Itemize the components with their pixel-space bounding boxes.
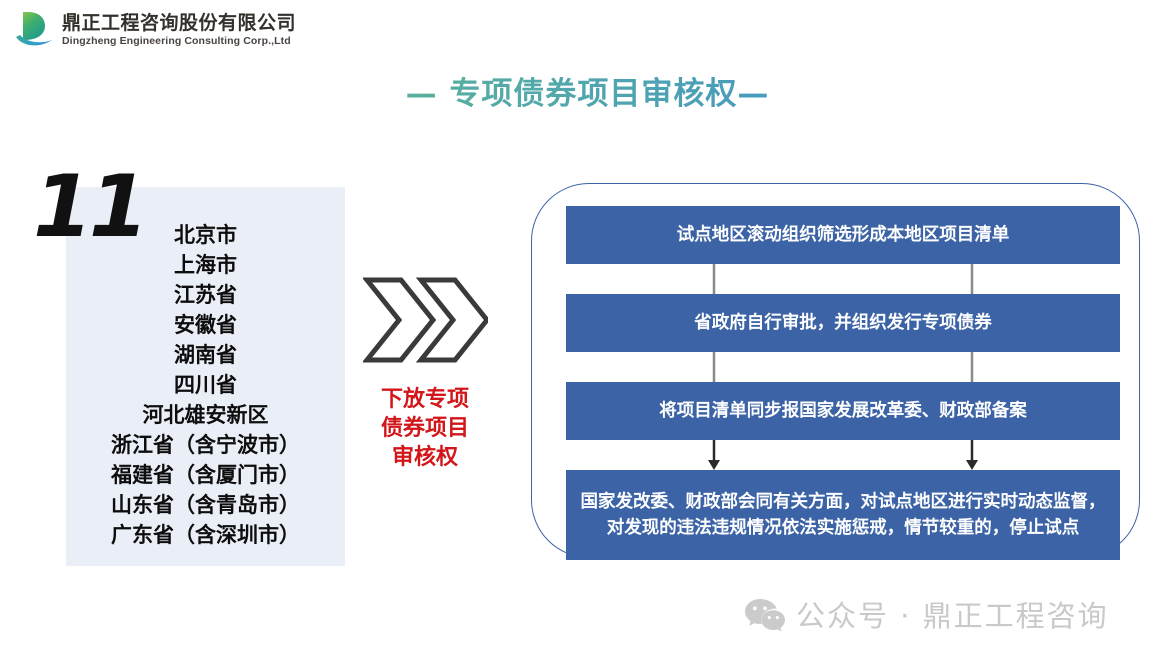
wechat-watermark: 公众号 · 鼎正工程咨询: [744, 590, 1109, 638]
wechat-account-label: 公众号 · 鼎正工程咨询: [796, 593, 1109, 635]
flow-step-4: 国家发改委、财政部会同有关方面，对试点地区进行实时动态监督，对发现的违法违规情况…: [566, 470, 1120, 560]
flow-step-2: 省政府自行审批，并组织发行专项债券: [566, 294, 1120, 352]
list-item: 江苏省: [66, 280, 345, 310]
dingzheng-d-logo-icon: [12, 8, 58, 52]
list-item: 福建省（含厦门市）: [66, 460, 345, 490]
company-logo: 鼎正工程咨询股份有限公司 Dingzheng Engineering Consu…: [12, 6, 272, 54]
flow-step-1: 试点地区滚动组织筛选形成本地区项目清单: [566, 206, 1120, 264]
page-title: — 专项债券项目审核权—: [0, 68, 1175, 113]
company-name-cn: 鼎正工程咨询股份有限公司: [62, 14, 296, 33]
double-chevron-right-icon: [363, 276, 488, 364]
delegation-caption-line: 下放专项: [355, 385, 495, 414]
delegation-caption: 下放专项 债券项目 审核权: [355, 385, 495, 472]
logo-text-block: 鼎正工程咨询股份有限公司 Dingzheng Engineering Consu…: [62, 14, 296, 47]
list-item: 四川省: [66, 370, 345, 400]
list-item: 广东省（含深圳市）: [66, 520, 345, 550]
region-count-number: 11: [33, 164, 145, 250]
flow-step-3: 将项目清单同步报国家发展改革委、财政部备案: [566, 382, 1120, 440]
region-list: 北京市 上海市 江苏省 安徽省 湖南省 四川省 河北雄安新区 浙江省（含宁波市）…: [66, 220, 345, 550]
list-item: 安徽省: [66, 310, 345, 340]
company-name-en: Dingzheng Engineering Consulting Corp.,L…: [62, 36, 296, 47]
wechat-icon: [744, 597, 786, 631]
list-item: 河北雄安新区: [66, 400, 345, 430]
delegation-caption-line: 债券项目: [355, 414, 495, 443]
delegation-caption-line: 审核权: [355, 443, 495, 472]
list-item: 湖南省: [66, 340, 345, 370]
list-item: 山东省（含青岛市）: [66, 490, 345, 520]
list-item: 浙江省（含宁波市）: [66, 430, 345, 460]
slide-canvas: 鼎正工程咨询股份有限公司 Dingzheng Engineering Consu…: [0, 0, 1175, 660]
